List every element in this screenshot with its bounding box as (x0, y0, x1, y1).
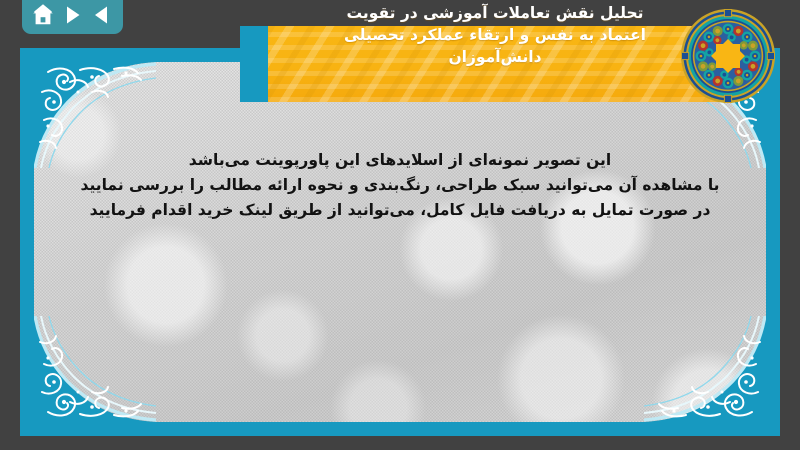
previous-button[interactable] (90, 3, 114, 27)
banner-teal-cap (240, 26, 268, 102)
persian-mandala-medallion-icon (678, 6, 778, 106)
body-line-2: با مشاهده آن می‌توانید سبک طراحی، رنگ‌بن… (68, 173, 732, 198)
navigation-bar (22, 0, 123, 34)
title-line-3: دانش‌آموزان (280, 46, 710, 68)
slide-viewer: این تصویر نمونه‌ای از اسلایدهای این پاور… (0, 0, 800, 450)
body-line-3: در صورت تمایل به دریافت فایل کامل، می‌تو… (68, 198, 732, 223)
slide-canvas: این تصویر نمونه‌ای از اسلایدهای این پاور… (34, 62, 766, 422)
title-line-2: اعتماد به نفس و ارتقاء عملکرد تحصیلی (280, 24, 710, 46)
slide-frame: این تصویر نمونه‌ای از اسلایدهای این پاور… (20, 48, 780, 436)
body-line-1: این تصویر نمونه‌ای از اسلایدهای این پاور… (68, 148, 732, 173)
next-button[interactable] (61, 3, 85, 27)
home-button[interactable] (31, 3, 55, 27)
arabesque-corner-bottom-left (34, 316, 156, 422)
slide-body-text: این تصویر نمونه‌ای از اسلایدهای این پاور… (68, 148, 732, 223)
page-title: تحلیل نقش تعاملات آموزشی در تقویت اعتماد… (280, 2, 710, 68)
home-icon (31, 3, 55, 27)
left-triangle-icon (90, 3, 114, 27)
arabesque-corner-bottom-right (644, 316, 766, 422)
right-triangle-icon (61, 3, 85, 27)
title-line-1: تحلیل نقش تعاملات آموزشی در تقویت (280, 2, 710, 24)
